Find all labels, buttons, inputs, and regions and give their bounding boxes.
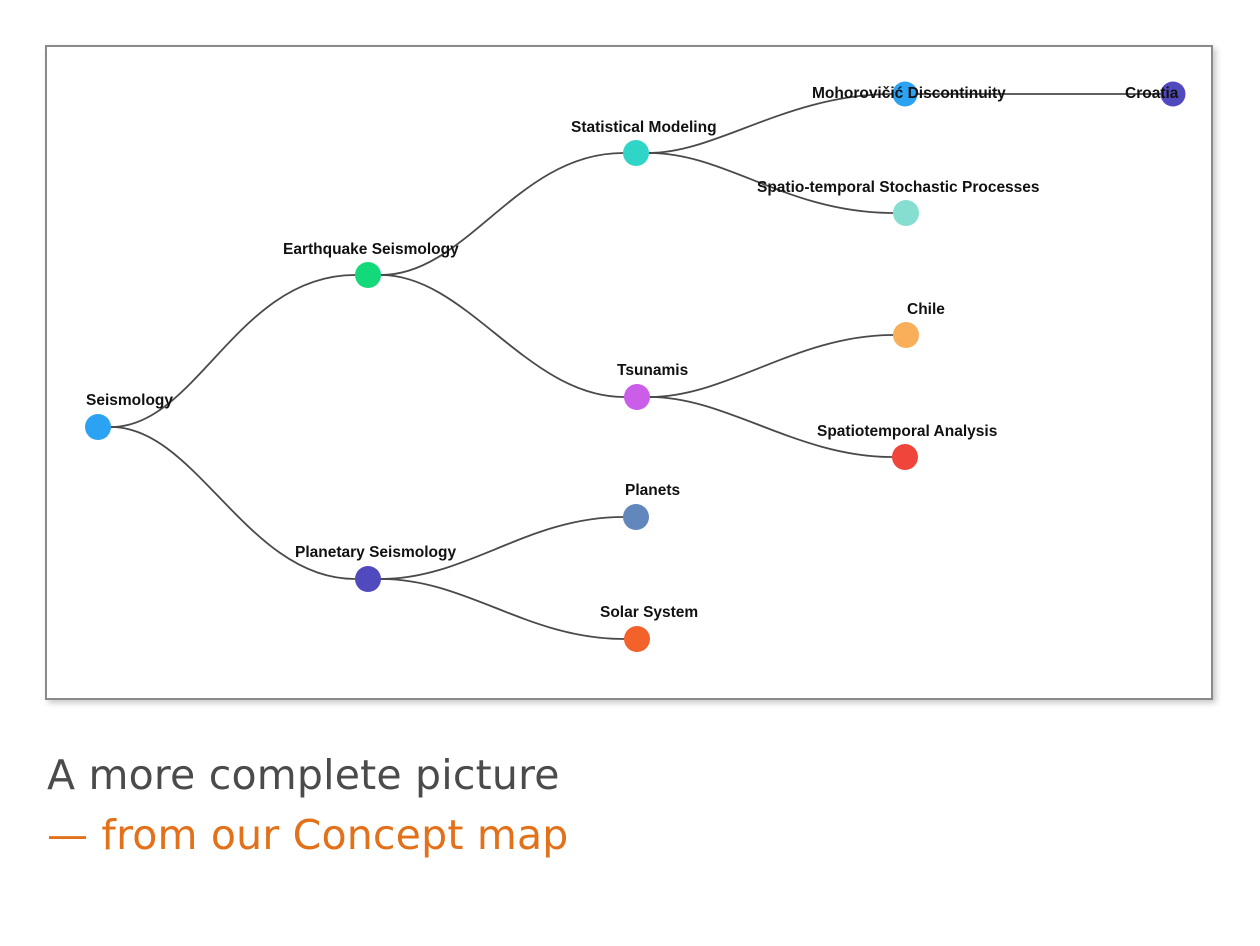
node-seismology[interactable]: [85, 414, 111, 440]
node-statistical-modeling[interactable]: [623, 140, 649, 166]
node-label-spatio-temporal-sp: Spatio-temporal Stochastic Processes: [757, 179, 1040, 196]
node-label-solar-system: Solar System: [600, 604, 698, 621]
node-label-mohorovicic: Mohorovičić Discontinuity: [812, 85, 1006, 102]
node-label-tsunamis: Tsunamis: [617, 362, 688, 379]
node-label-chile: Chile: [907, 301, 945, 318]
edge-earthquake-seismology-to-tsunamis: [381, 275, 624, 397]
node-spatiotemporal-analysis[interactable]: [892, 444, 918, 470]
node-label-croatia: Croatia: [1125, 85, 1179, 102]
node-tsunamis[interactable]: [624, 384, 650, 410]
caption-line-primary: A more complete picture: [47, 748, 1147, 802]
node-label-statistical-modeling: Statistical Modeling: [571, 119, 717, 136]
concept-map-frame: SeismologyEarthquake SeismologyStatistic…: [45, 45, 1213, 700]
node-earthquake-seismology[interactable]: [355, 262, 381, 288]
concept-map-graph[interactable]: SeismologyEarthquake SeismologyStatistic…: [47, 47, 1211, 698]
slide-root: SeismologyEarthquake SeismologyStatistic…: [0, 0, 1260, 946]
node-label-earthquake-seismology: Earthquake Seismology: [283, 241, 459, 258]
node-planetary-seismology[interactable]: [355, 566, 381, 592]
node-label-planetary-seismology: Planetary Seismology: [295, 544, 456, 561]
node-label-seismology: Seismology: [86, 392, 173, 409]
node-chile[interactable]: [893, 322, 919, 348]
node-planets[interactable]: [623, 504, 649, 530]
node-label-spatiotemporal-analysis: Spatiotemporal Analysis: [817, 423, 997, 440]
caption-block: A more complete picture — from our Conce…: [47, 748, 1147, 862]
node-solar-system[interactable]: [624, 626, 650, 652]
caption-line-attribution: — from our Concept map: [47, 808, 1147, 862]
node-label-planets: Planets: [625, 482, 680, 499]
edge-planetary-seismology-to-solar-system: [381, 579, 624, 639]
node-spatio-temporal-sp[interactable]: [893, 200, 919, 226]
